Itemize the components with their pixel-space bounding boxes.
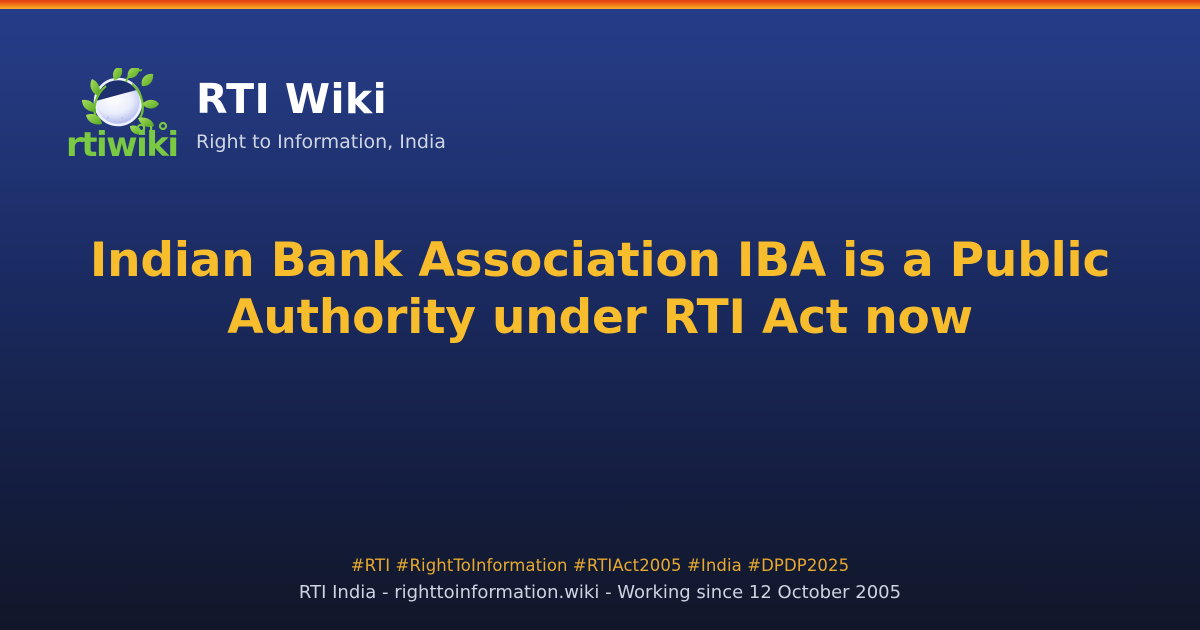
svg-text:rtiwiki: rtiwiki (66, 125, 178, 160)
logo-wordmark-text: rtiwiki (66, 125, 178, 160)
social-share-card: rtiwiki RTI Wiki Right to Information, I… (0, 0, 1200, 630)
top-accent-bar (0, 0, 1200, 9)
footer: #RTI #RightToInformation #RTIAct2005 #In… (0, 554, 1200, 606)
brand-title: RTI Wiki (196, 78, 446, 121)
brand-text-block: RTI Wiki Right to Information, India (196, 76, 446, 153)
page-title: Indian Bank Association IBA is a Public … (0, 232, 1200, 347)
brand-header[interactable]: rtiwiki RTI Wiki Right to Information, I… (62, 68, 446, 160)
brand-subtitle: Right to Information, India (196, 132, 446, 153)
site-credit-line: RTI India - righttoinformation.wiki - Wo… (0, 580, 1200, 606)
hashtag-list: #RTI #RightToInformation #RTIAct2005 #In… (0, 554, 1200, 578)
rtiwiki-globe-leaves-logo: rtiwiki (62, 68, 178, 160)
